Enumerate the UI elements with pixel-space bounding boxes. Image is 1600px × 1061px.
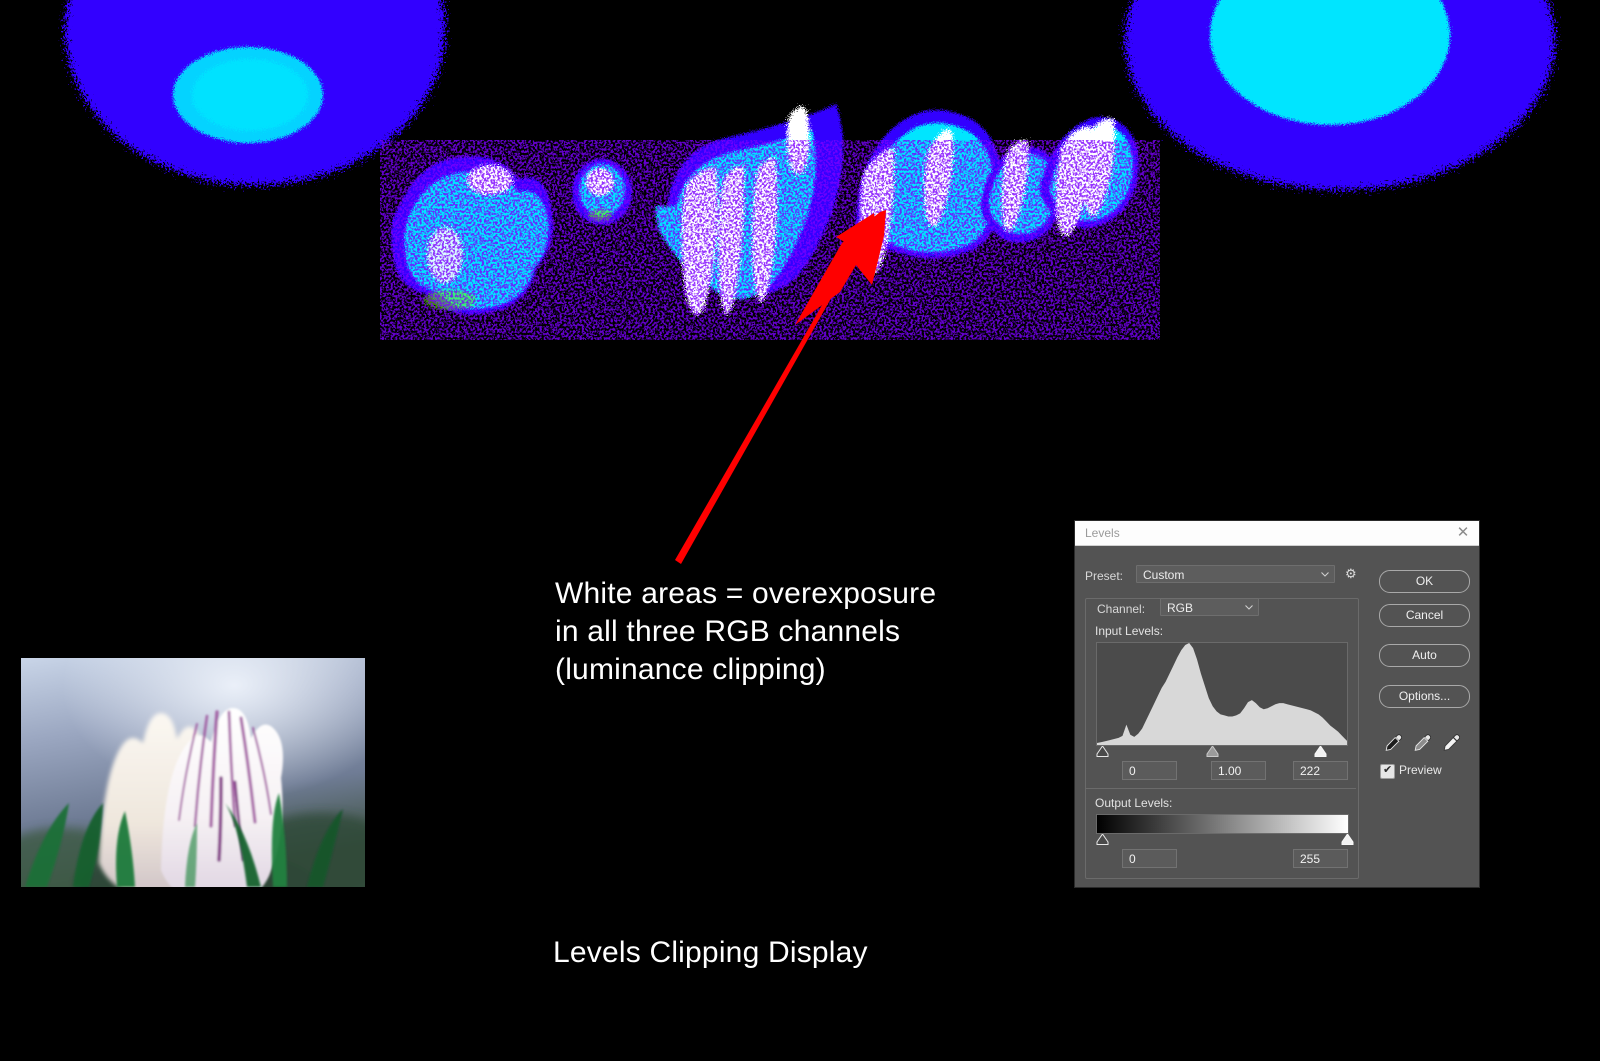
white-point-eyedropper-icon[interactable]: [1440, 732, 1462, 754]
chevron-down-icon: [1320, 569, 1330, 579]
preview-checkbox[interactable]: ✔: [1380, 764, 1395, 779]
output-white-field[interactable]: 255: [1293, 849, 1348, 868]
cancel-button[interactable]: Cancel: [1379, 604, 1470, 627]
input-levels-label: Input Levels:: [1095, 624, 1163, 638]
overexposure-annotation-text: White areas = overexposure in all three …: [555, 575, 936, 689]
channel-label: Channel:: [1093, 602, 1149, 616]
options-button[interactable]: Options...: [1379, 685, 1470, 708]
input-levels-histogram: [1096, 642, 1348, 746]
ok-button[interactable]: OK: [1379, 570, 1470, 593]
channel-value: RGB: [1167, 601, 1193, 615]
input-black-handle[interactable]: [1096, 746, 1109, 757]
preview-label: Preview: [1399, 763, 1442, 777]
output-levels-gradient: [1096, 814, 1349, 834]
input-gamma-handle[interactable]: [1206, 746, 1219, 757]
output-black-field[interactable]: 0: [1122, 849, 1177, 868]
dialog-titlebar[interactable]: Levels ✕: [1075, 521, 1479, 546]
input-white-handle[interactable]: [1314, 746, 1327, 757]
dialog-title: Levels: [1085, 526, 1120, 540]
channel-select[interactable]: RGB: [1160, 598, 1259, 616]
output-white-handle[interactable]: [1341, 834, 1354, 845]
output-levels-slider[interactable]: [1096, 834, 1348, 846]
divider: [1086, 788, 1356, 789]
input-gamma-field[interactable]: 1.00: [1211, 761, 1266, 780]
preset-value: Custom: [1143, 568, 1184, 582]
preset-label: Preset:: [1085, 569, 1123, 583]
close-icon[interactable]: ✕: [1454, 524, 1472, 542]
checkmark-icon: ✔: [1383, 764, 1393, 774]
chevron-down-icon: [1244, 602, 1254, 612]
auto-button[interactable]: Auto: [1379, 644, 1470, 667]
black-point-eyedropper-icon[interactable]: [1382, 732, 1404, 754]
levels-dialog[interactable]: Levels ✕ Preset: Custom ⚙ Channel: RGB I…: [1074, 520, 1480, 888]
gray-point-eyedropper-icon[interactable]: [1411, 732, 1433, 754]
input-black-field[interactable]: 0: [1122, 761, 1177, 780]
preset-select[interactable]: Custom: [1136, 565, 1335, 583]
dialog-body: Preset: Custom ⚙ Channel: RGB Input Leve…: [1075, 546, 1479, 887]
page-title: Levels Clipping Display: [553, 934, 868, 972]
crocus-photo-thumbnail: [21, 658, 365, 887]
eyedropper-row: [1381, 732, 1469, 754]
output-black-handle[interactable]: [1096, 834, 1109, 845]
input-white-field[interactable]: 222: [1293, 761, 1348, 780]
output-levels-label: Output Levels:: [1095, 796, 1172, 810]
gear-icon[interactable]: ⚙: [1345, 566, 1367, 582]
input-levels-slider[interactable]: [1096, 746, 1348, 758]
